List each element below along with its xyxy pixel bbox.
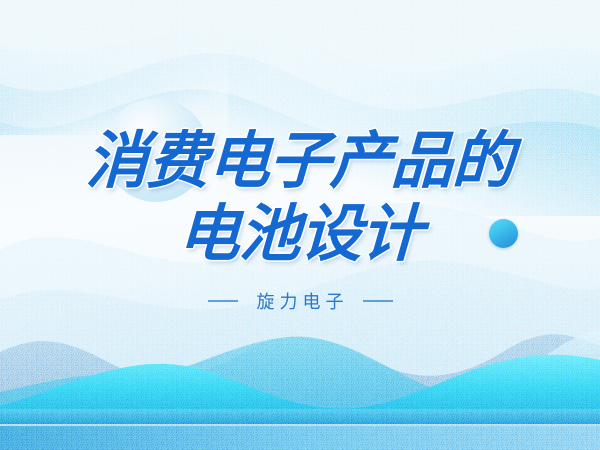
title-block: 消费电子产品的 电池设计 旋力电子 — [0, 0, 600, 450]
subtitle-left-rule-icon — [208, 300, 238, 302]
subtitle-row: 旋力电子 — [208, 288, 393, 314]
title-line-2: 电池设计 — [177, 204, 423, 266]
title-line-1: 消费电子产品的 — [85, 131, 514, 193]
subtitle-text: 旋力电子 — [252, 288, 349, 314]
poster-canvas: 消费电子产品的 电池设计 旋力电子 — [0, 0, 600, 450]
subtitle-right-rule-icon — [363, 300, 393, 302]
